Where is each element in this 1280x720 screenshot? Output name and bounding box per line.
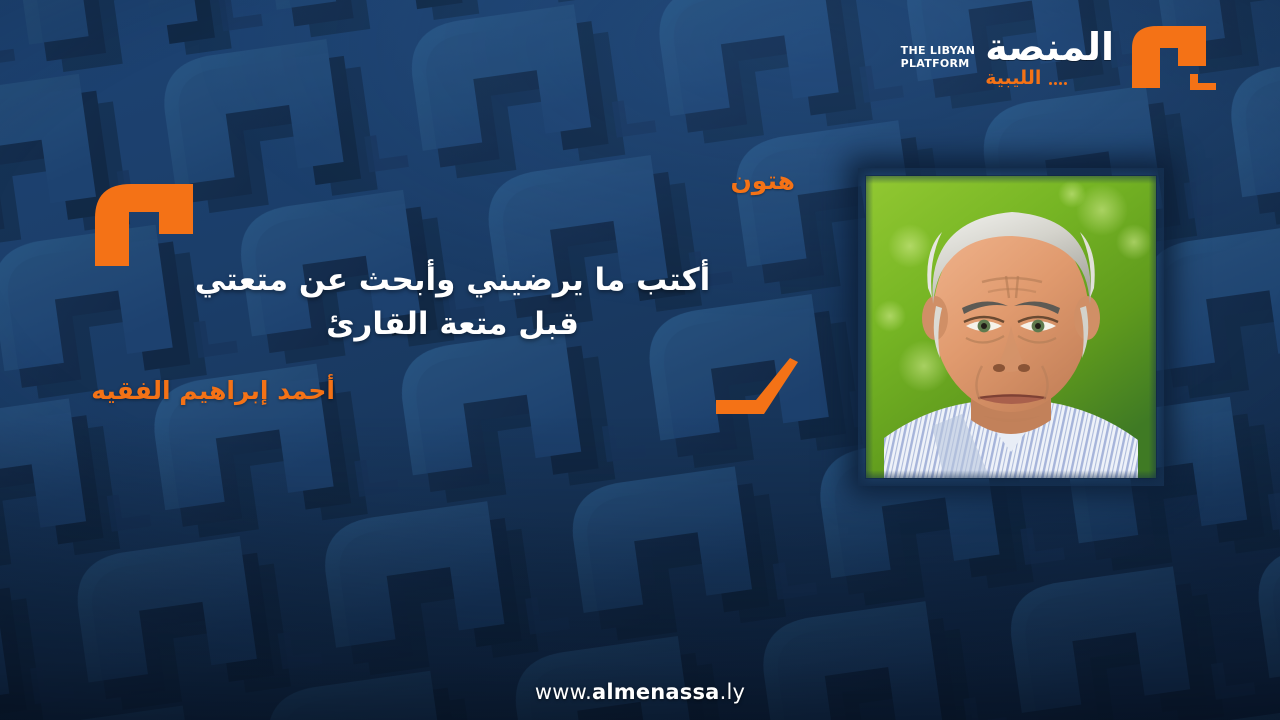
url-brand: almenassa	[592, 680, 720, 704]
portrait-photo-icon	[866, 176, 1156, 478]
author-name: أحمد إبراهيم الفقيه	[91, 378, 335, 403]
author-portrait	[858, 168, 1164, 486]
brand-subtitle-arabic: الليبية	[985, 69, 1041, 88]
quote-text: أكتب ما يرضيني وأبحث عن متعتي قبل متعة ا…	[180, 258, 725, 346]
url-prefix: www.	[535, 680, 592, 704]
brand-name-arabic: المنصة	[985, 28, 1114, 66]
brand-name-english: THE LIBYAN PLATFORM	[901, 45, 976, 71]
quote-card-canvas: المنصة الليبية THE LIBYAN PLATFORM هتون …	[0, 0, 1280, 720]
close-quote-mark-icon	[712, 358, 798, 414]
brand-english-line-2: PLATFORM	[901, 58, 976, 71]
footer-website-url[interactable]: www.almenassa.ly	[0, 680, 1280, 704]
brand-logo[interactable]: المنصة الليبية THE LIBYAN PLATFORM	[901, 22, 1220, 94]
brand-subtitle-row: الليبية	[985, 69, 1067, 88]
logo-dots-icon	[1049, 82, 1067, 88]
brand-logo-text: المنصة الليبية	[985, 28, 1114, 88]
open-quote-mark-icon	[85, 178, 205, 270]
url-tld: .ly	[720, 680, 746, 704]
kicker-label: هتون	[730, 168, 795, 193]
almenassa-logo-mark-icon	[1124, 22, 1220, 94]
